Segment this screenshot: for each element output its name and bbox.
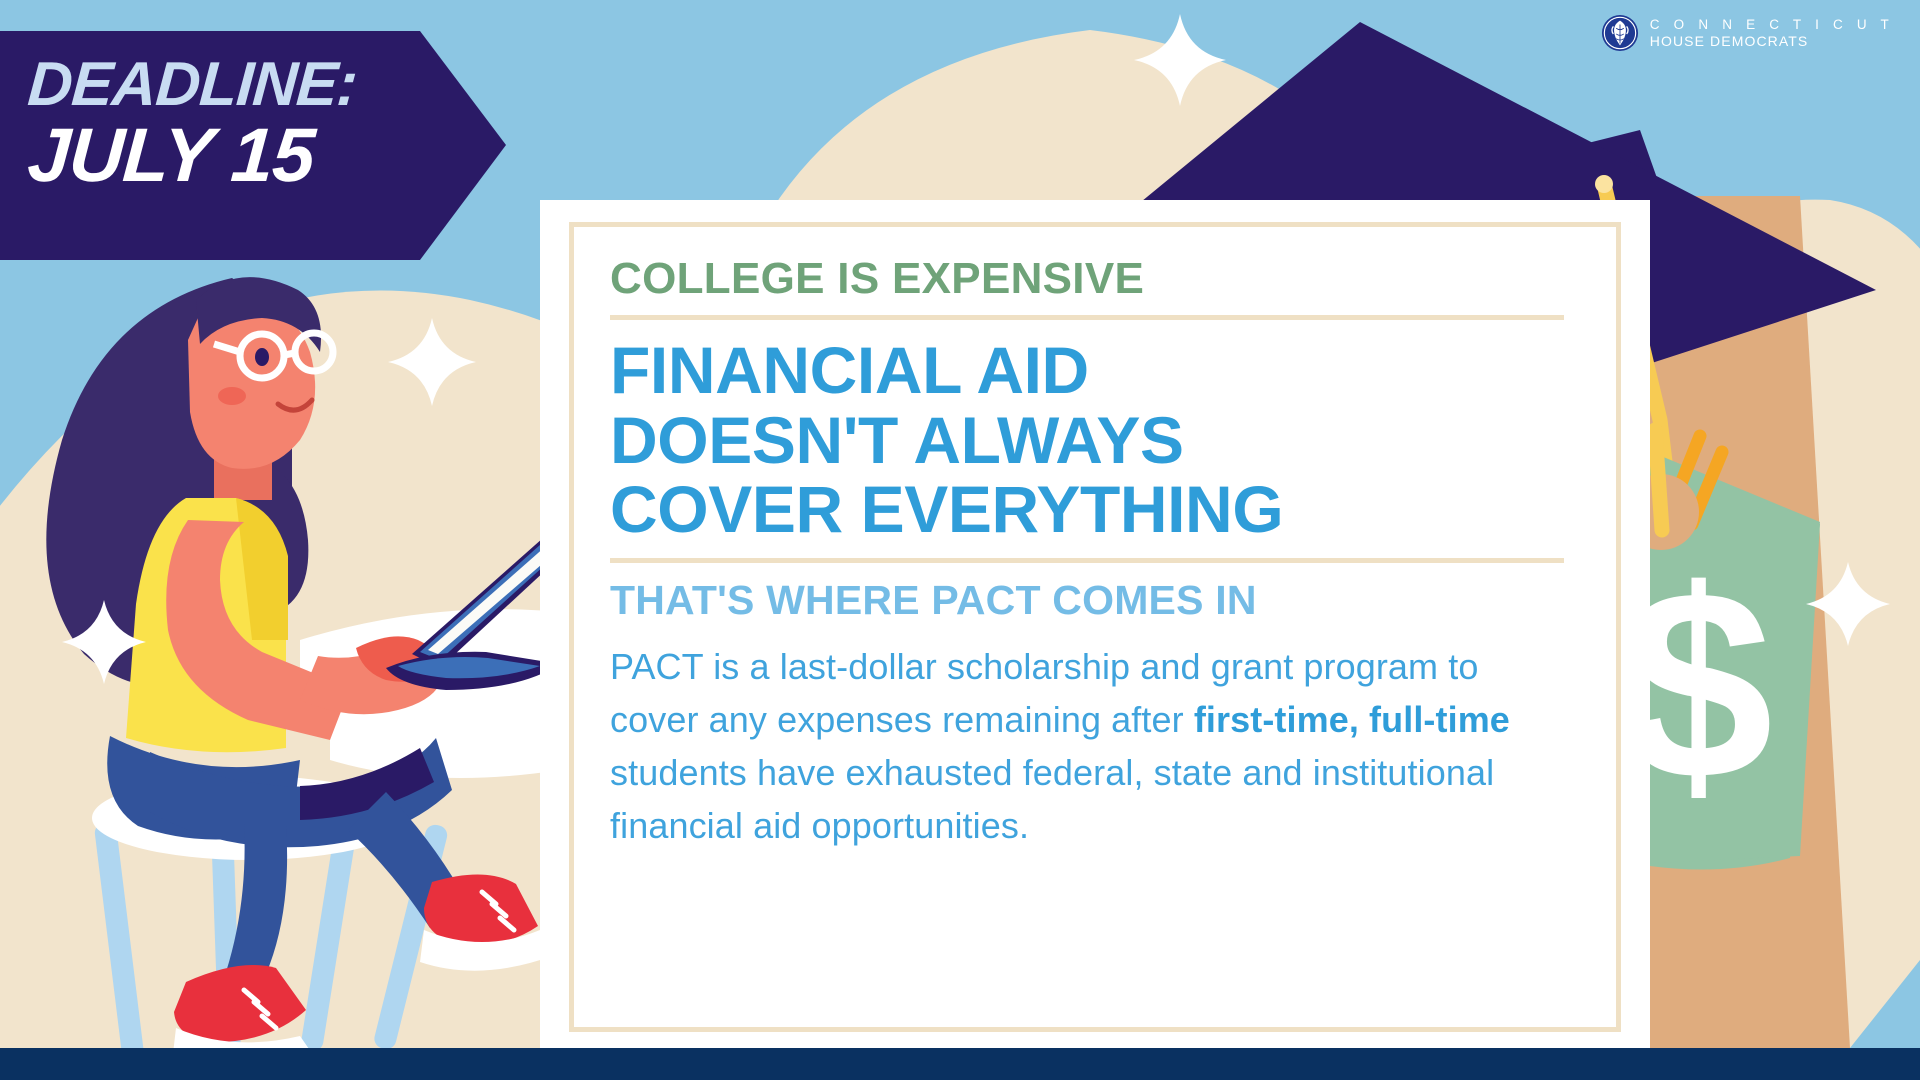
logo-line-connecticut: C O N N E C T I C U T bbox=[1650, 18, 1894, 32]
organization-logo: C O N N E C T I C U T HOUSE DEMOCRATS bbox=[1601, 14, 1894, 52]
sparkle-icon-4 bbox=[1806, 562, 1890, 646]
sparkle-icon-1 bbox=[1134, 14, 1226, 106]
infographic-canvas: $ COLLEGE IS EXPENSIVE FINANCIAL AID DOE… bbox=[0, 0, 1920, 1080]
sparkle-icon-3 bbox=[62, 600, 146, 684]
connecticut-state-seal-icon bbox=[1601, 14, 1639, 52]
deadline-banner: DEADLINE: JULY 15 bbox=[0, 31, 506, 260]
logo-text-block: C O N N E C T I C U T HOUSE DEMOCRATS bbox=[1650, 18, 1894, 49]
logo-line-house-democrats: HOUSE DEMOCRATS bbox=[1650, 34, 1894, 48]
deadline-label: DEADLINE: bbox=[26, 55, 508, 116]
sparkle-icon-2 bbox=[388, 318, 476, 406]
bottom-accent-bar bbox=[0, 1048, 1920, 1080]
deadline-date: JULY 15 bbox=[25, 118, 508, 194]
